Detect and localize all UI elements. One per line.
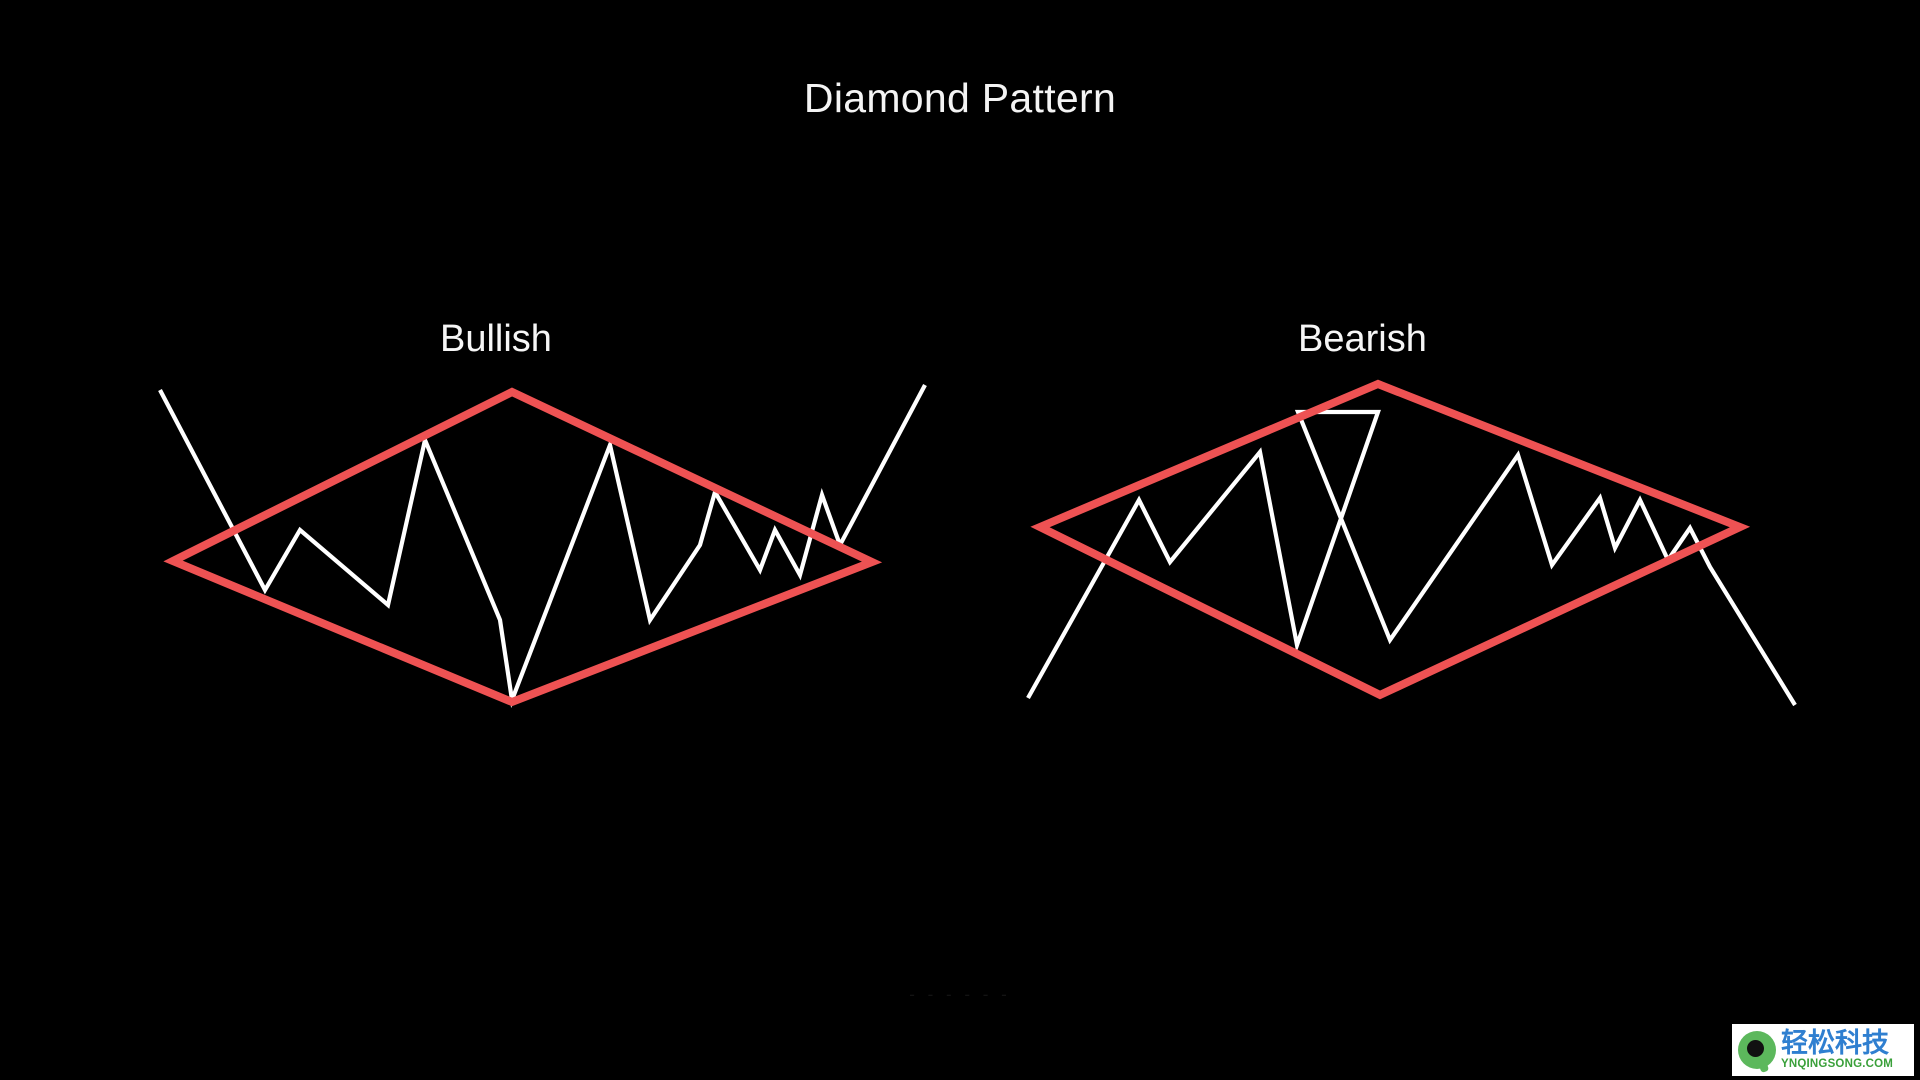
bullish-price-line [160, 385, 925, 700]
chart-canvas: Diamond Pattern Bullish Bearish - - - - … [0, 0, 1920, 1080]
bearish-diamond-outline [1040, 384, 1740, 695]
eye-logo-icon [1738, 1031, 1776, 1069]
bullish-pattern-group [160, 385, 925, 702]
bearish-pattern-group [1028, 384, 1795, 705]
watermark-brand-name: 轻松科技 [1781, 1030, 1893, 1057]
watermark-text-block: 轻松科技 YNQINGSONG.COM [1781, 1030, 1893, 1071]
faint-background-artifact: - - - - - - [0, 985, 1920, 1005]
watermark: 轻松科技 YNQINGSONG.COM [1732, 1024, 1914, 1076]
pattern-diagram-svg [0, 0, 1920, 1080]
watermark-url: YNQINGSONG.COM [1781, 1059, 1893, 1071]
